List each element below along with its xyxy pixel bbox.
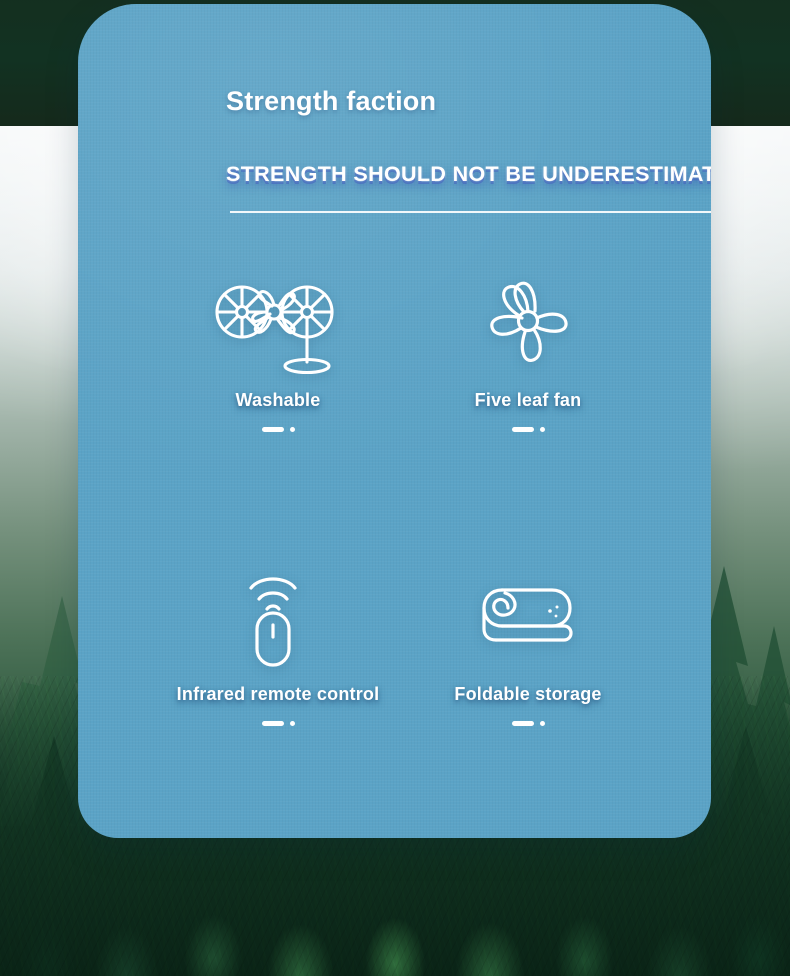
feature-label: Washable	[236, 390, 321, 411]
dot-mark	[540, 721, 545, 726]
dash-mark	[512, 721, 534, 726]
feature-item-washable[interactable]: Washable	[158, 266, 398, 432]
dash-mark	[262, 427, 284, 432]
feature-card: Strength faction STRENGTH SHOULD NOT BE …	[78, 4, 711, 838]
dot-mark	[290, 721, 295, 726]
dash-mark	[512, 427, 534, 432]
feature-row-1: Washable	[148, 266, 648, 432]
foldable-storage-roll-icon	[478, 560, 578, 670]
feature-label: Foldable storage	[454, 684, 601, 705]
dash-dot-marker	[512, 721, 545, 726]
feature-label: Infrared remote control	[177, 684, 380, 705]
poster-stage: Strength faction STRENGTH SHOULD NOT BE …	[0, 0, 790, 976]
dash-dot-marker	[262, 721, 295, 726]
infrared-remote-control-icon	[238, 560, 318, 670]
dash-mark	[262, 721, 284, 726]
feature-item-five-leaf-fan[interactable]: Five leaf fan	[408, 266, 648, 432]
dash-dot-marker	[262, 427, 295, 432]
dot-mark	[540, 427, 545, 432]
feature-label: Five leaf fan	[475, 390, 582, 411]
feature-row-2: Infrared remote control	[148, 560, 648, 726]
dash-dot-marker	[512, 427, 545, 432]
feature-item-infrared-remote-control[interactable]: Infrared remote control	[158, 560, 398, 726]
card-headline: STRENGTH SHOULD NOT BE UNDERESTIMATED	[226, 162, 711, 187]
card-eyebrow-title: Strength faction	[226, 86, 436, 117]
dot-mark	[290, 427, 295, 432]
feature-item-foldable-storage[interactable]: Foldable storage	[408, 560, 648, 726]
headline-divider	[230, 211, 711, 213]
washable-fan-grille-icon	[213, 266, 343, 376]
five-leaf-fan-icon	[480, 266, 576, 376]
feature-grid: Washable	[148, 266, 648, 726]
